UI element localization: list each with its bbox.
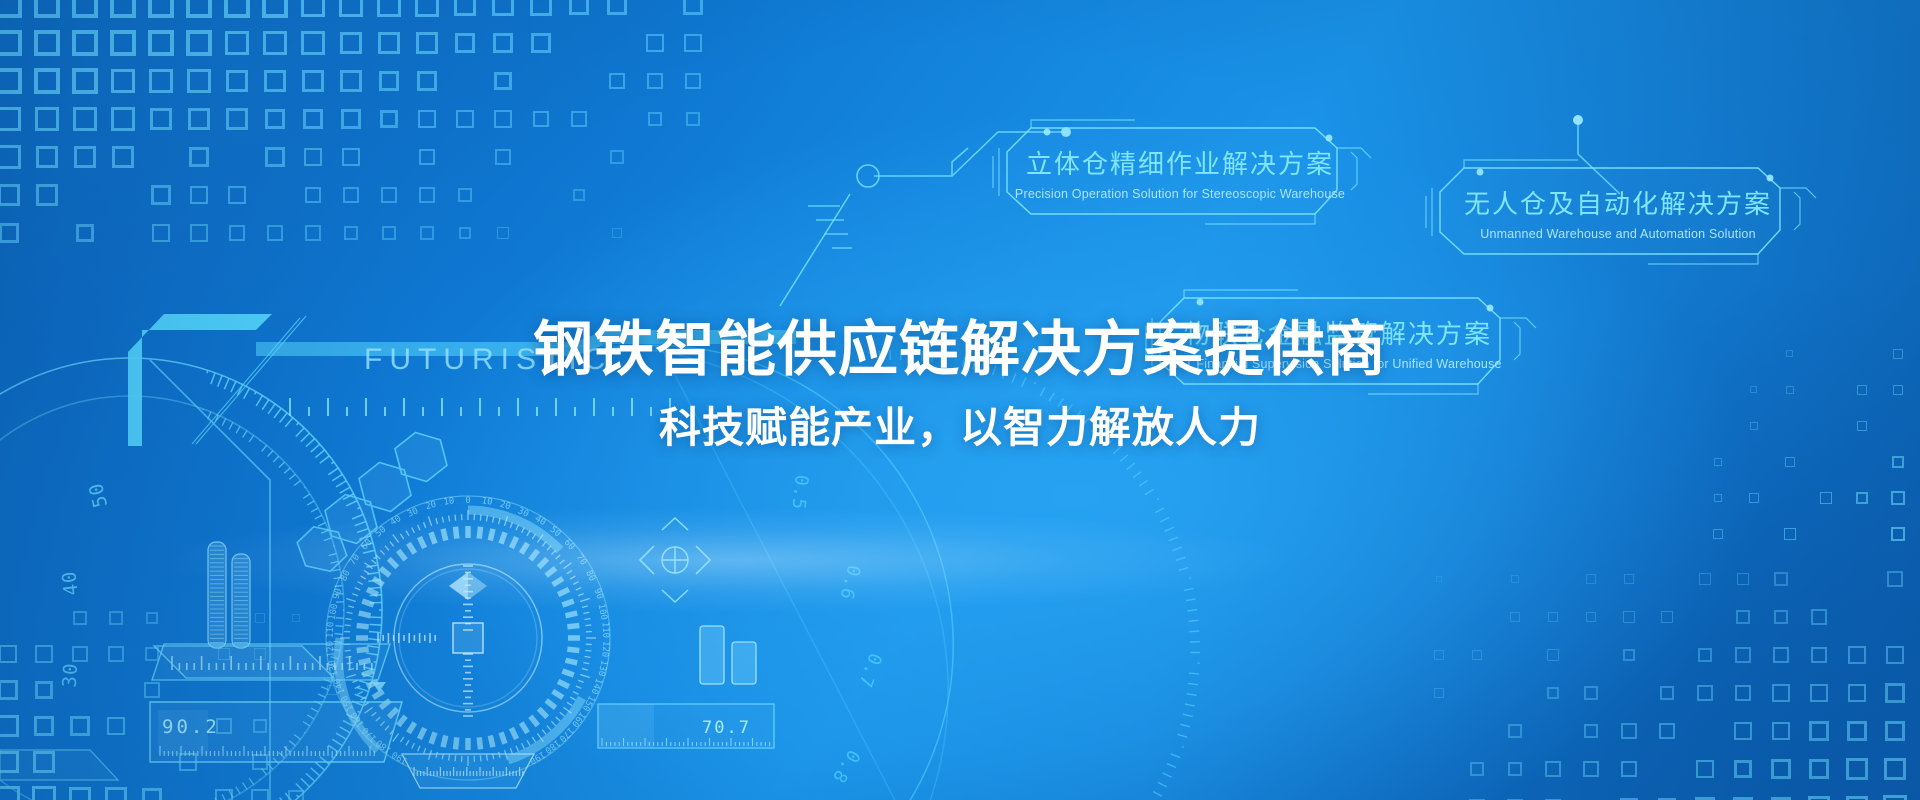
badge-title-cn: 立体仓精细作业解决方案 <box>985 151 1375 177</box>
pixel-square-field-top-left <box>0 0 710 236</box>
readout-value-left: 90.2 <box>162 716 220 738</box>
solution-badge-unmanned-warehouse[interactable]: 无人仓及自动化解决方案 Unmanned Warehouse and Autom… <box>1418 158 1818 270</box>
pixel-square-field-bottom-left <box>0 600 350 800</box>
readout-value-right: 70.7 <box>702 718 751 738</box>
badge-title-cn: 无人仓及自动化解决方案 <box>1418 191 1818 217</box>
pixel-square-field-bottom-right <box>1420 560 1920 800</box>
arc-number-0-5: 0.5 <box>787 474 812 512</box>
solution-badge-stereoscopic-warehouse[interactable]: 立体仓精细作业解决方案 Precision Operation Solution… <box>985 118 1375 230</box>
dial-number-40: 40 <box>58 569 82 596</box>
hero-copy: 钢铁智能供应链解决方案提供商 科技赋能产业，以智力解放人力 <box>0 318 1920 451</box>
badge-title-en: Precision Operation Solution for Stereos… <box>985 188 1375 201</box>
hero-subtitle: 科技赋能产业，以智力解放人力 <box>0 405 1920 451</box>
dial-number-30: 30 <box>59 662 83 688</box>
hero-title: 钢铁智能供应链解决方案提供商 <box>0 318 1920 381</box>
banner-canvas: 50 40 30 0.5 0.6 0.7 0.8 <box>0 0 1920 800</box>
badge-title-en: Unmanned Warehouse and Automation Soluti… <box>1418 228 1818 241</box>
